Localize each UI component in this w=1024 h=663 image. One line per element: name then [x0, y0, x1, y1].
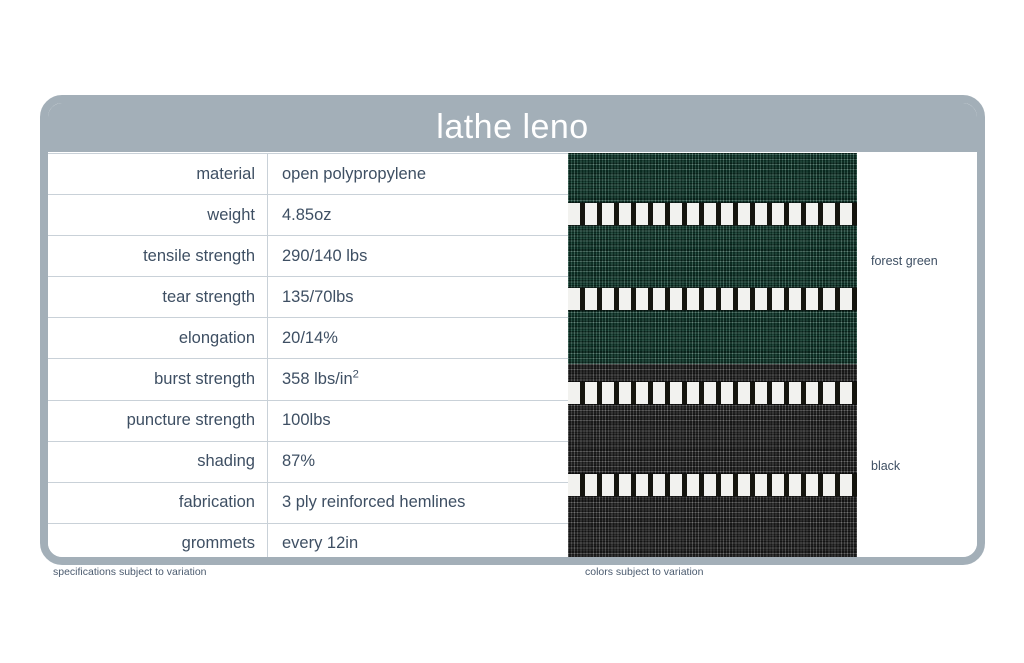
swatch-black	[568, 364, 857, 564]
footnote-specifications: specifications subject to variation	[53, 566, 207, 578]
table-row: tensile strength 290/140 lbs	[48, 236, 568, 277]
color-label-black: black	[871, 459, 900, 473]
hem-band	[568, 382, 857, 404]
spec-label-fabrication: fabrication	[48, 483, 268, 523]
spec-value-tensile-strength: 290/140 lbs	[268, 247, 568, 266]
table-row: weight 4.85oz	[48, 195, 568, 236]
spec-label-shading: shading	[48, 442, 268, 482]
burst-strength-main: 358 lbs/in	[282, 370, 353, 388]
card-header: lathe leno	[48, 102, 977, 152]
spec-value-elongation: 20/14%	[268, 329, 568, 348]
table-row: fabrication 3 ply reinforced hemlines	[48, 483, 568, 524]
spec-value-tear-strength: 135/70lbs	[268, 288, 568, 307]
weave-texture	[568, 153, 857, 364]
swatch-forest-green	[568, 153, 857, 364]
table-row: tear strength 135/70lbs	[48, 277, 568, 318]
page-title: lathe leno	[436, 110, 588, 144]
spec-value-fabrication: 3 ply reinforced hemlines	[268, 493, 568, 512]
color-label-forest-green: forest green	[871, 254, 938, 268]
fabric-swatch-column: forest green black	[568, 153, 857, 564]
footnote-colors: colors subject to variation	[585, 566, 703, 578]
table-row: elongation 20/14%	[48, 318, 568, 359]
spec-label-elongation: elongation	[48, 318, 268, 358]
spec-value-material: open polypropylene	[268, 165, 568, 184]
table-row: puncture strength 100lbs	[48, 401, 568, 442]
hem-band	[568, 474, 857, 496]
spec-label-weight: weight	[48, 195, 268, 235]
burst-strength-exponent: 2	[353, 369, 359, 381]
hem-band	[568, 203, 857, 225]
table-row: material open polypropylene	[48, 154, 568, 195]
specifications-table: material open polypropylene weight 4.85o…	[48, 153, 568, 564]
card-body: material open polypropylene weight 4.85o…	[48, 153, 977, 564]
spec-value-weight: 4.85oz	[268, 206, 568, 225]
spec-label-puncture-strength: puncture strength	[48, 401, 268, 441]
table-row: shading 87%	[48, 442, 568, 483]
spec-value-grommets: every 12in	[268, 534, 568, 553]
spec-label-material: material	[48, 154, 268, 194]
spec-value-puncture-strength: 100lbs	[268, 411, 568, 430]
spec-value-shading: 87%	[268, 452, 568, 471]
product-spec-card: lathe leno material open polypropylene w…	[40, 95, 985, 565]
fabric-swatch-image	[568, 153, 857, 564]
spec-label-grommets: grommets	[48, 524, 268, 564]
spec-value-burst-strength: 358 lbs/in2	[268, 370, 568, 389]
spec-label-burst-strength: burst strength	[48, 359, 268, 399]
table-row: grommets every 12in	[48, 524, 568, 564]
hem-band	[568, 288, 857, 310]
spec-label-tear-strength: tear strength	[48, 277, 268, 317]
spec-label-tensile-strength: tensile strength	[48, 236, 268, 276]
table-row: burst strength 358 lbs/in2	[48, 359, 568, 400]
